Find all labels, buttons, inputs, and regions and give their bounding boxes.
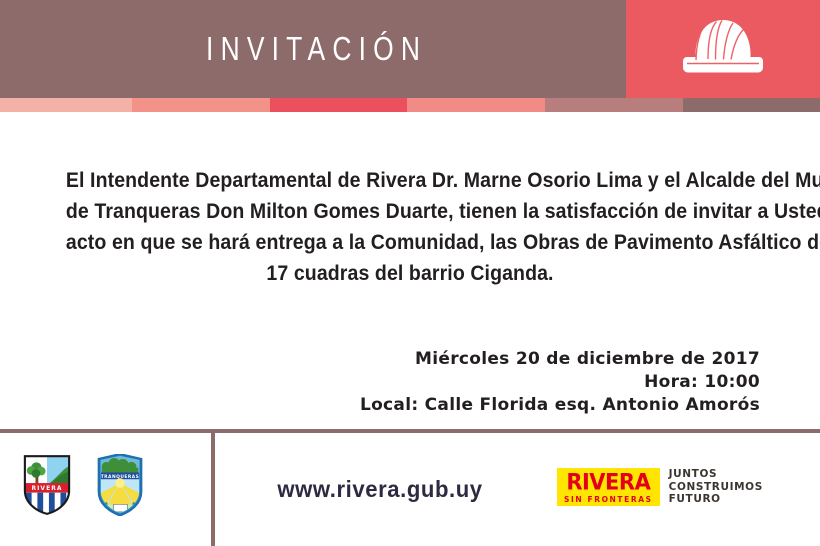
sponsor-badge-subtitle: SIN FRONTERAS — [564, 496, 653, 504]
sponsor-badge: RIVERA SIN FRONTERAS — [557, 468, 660, 507]
tranqueras-crest: TRANQUERAS — [94, 454, 146, 521]
rivera-crest: RIVERA — [22, 454, 72, 521]
stripe-segment-6 — [683, 98, 820, 112]
sponsor-slogan-line-3: FUTURO — [669, 493, 763, 506]
event-details-block: Miércoles 20 de diciembre de 2017 Hora: … — [360, 348, 760, 417]
website-url[interactable]: www.rivera.gub.uy — [222, 433, 539, 546]
body-line-1: El Intendente Departamental de Rivera Dr… — [66, 165, 754, 196]
invitation-body-text: El Intendente Departamental de Rivera Dr… — [40, 165, 780, 289]
page-title: INVITACIÓN — [63, 0, 564, 98]
body-line-2: de Tranqueras Don Milton Gomes Duarte, t… — [66, 196, 754, 227]
stripe-segment-5 — [545, 98, 683, 112]
svg-text:RIVERA: RIVERA — [31, 485, 62, 492]
stripe-segment-3 — [270, 98, 407, 112]
footer: RIVERA — [0, 433, 820, 546]
sponsor-slogan-line-1: JUNTOS — [669, 468, 763, 481]
body-line-4: 17 cuadras del barrio Ciganda. — [66, 258, 754, 289]
body-line-3: acto en que se hará entrega a la Comunid… — [66, 227, 754, 258]
event-location: Local: Calle Florida esq. Antonio Amorós — [360, 394, 760, 417]
event-date: Miércoles 20 de diciembre de 2017 — [360, 348, 760, 371]
invitation-card: INVITACIÓN — [0, 0, 820, 546]
sponsor-slogan: JUNTOS CONSTRUIMOS FUTURO — [669, 468, 763, 506]
hard-hat-icon — [675, 14, 771, 84]
decorative-color-stripe — [0, 98, 820, 112]
event-time: Hora: 10:00 — [360, 371, 760, 394]
stripe-segment-2 — [132, 98, 270, 112]
stripe-segment-4 — [407, 98, 545, 112]
header-banner: INVITACIÓN — [0, 0, 820, 98]
sponsor-badge-title: RIVERA — [566, 471, 650, 493]
sponsor-slogan-line-2: CONSTRUIMOS — [669, 481, 763, 494]
crest-group: RIVERA — [22, 451, 182, 523]
sponsor-logo: RIVERA SIN FRONTERAS JUNTOS CONSTRUIMOS … — [557, 464, 763, 510]
stripe-segment-1 — [0, 98, 132, 112]
